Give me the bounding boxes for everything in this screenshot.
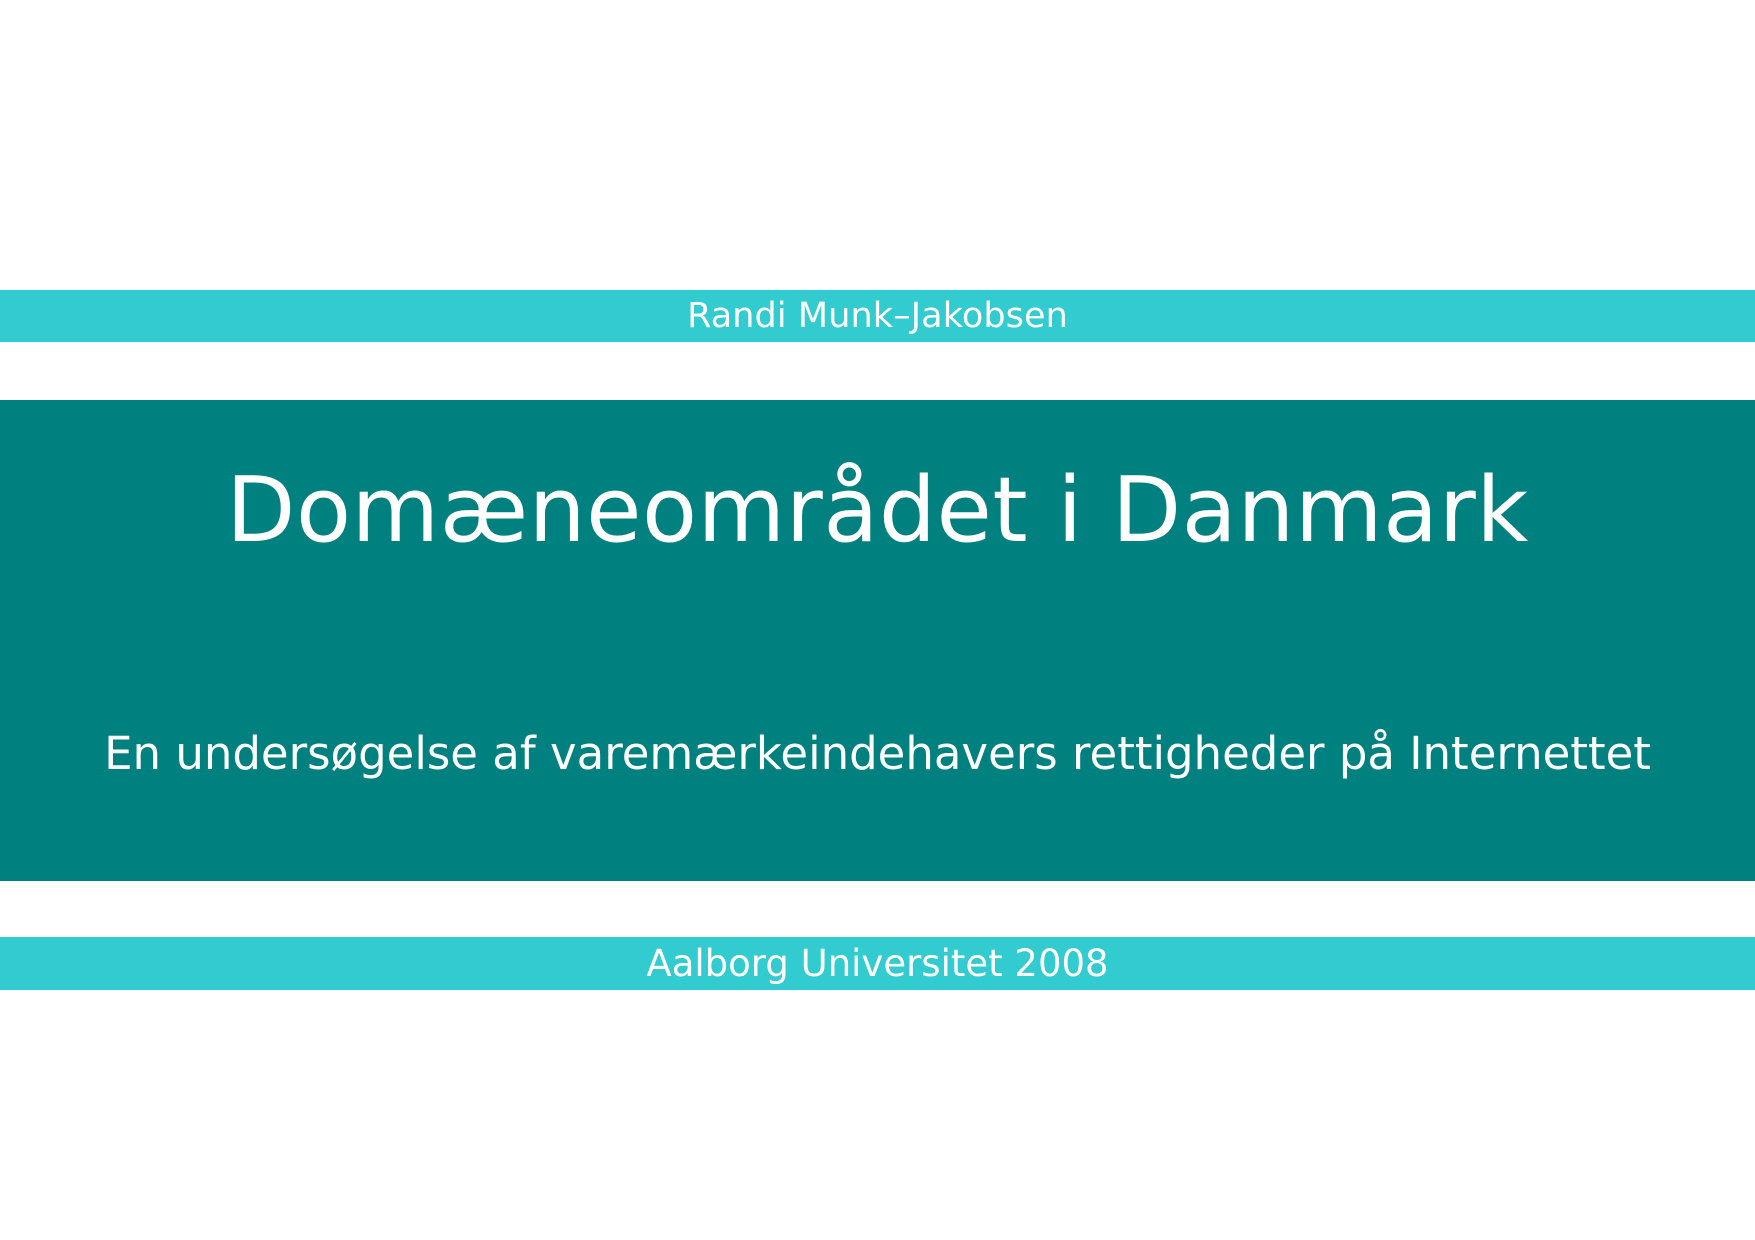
title-slide: Randi Munk–Jakobsen Domæneområdet i Danm… [0, 0, 1755, 1240]
institution-name: Aalborg Universitet 2008 [646, 945, 1108, 982]
institution-band: Aalborg Universitet 2008 [0, 937, 1755, 990]
author-band: Randi Munk–Jakobsen [0, 290, 1755, 342]
page-title: Domæneområdet i Danmark [0, 462, 1755, 559]
page-subtitle: En undersøgelse af varemærkeindehavers r… [0, 729, 1755, 779]
title-block: Domæneområdet i Danmark En undersøgelse … [0, 400, 1755, 881]
author-name: Randi Munk–Jakobsen [687, 299, 1068, 334]
